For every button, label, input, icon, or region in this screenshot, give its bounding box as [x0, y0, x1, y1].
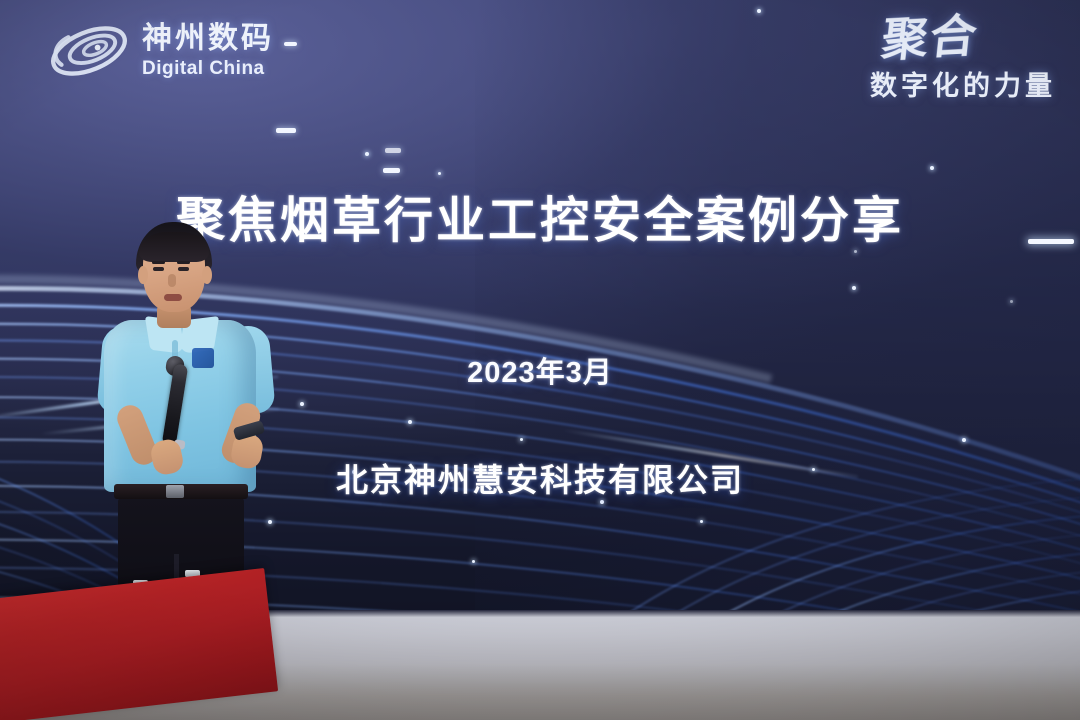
particle-dot [1010, 300, 1013, 303]
particle-dot [472, 560, 475, 563]
particle-dot [300, 402, 304, 406]
slogan-subtitle: 数字化的力量 [870, 64, 1056, 103]
slide-accent-dash [1028, 239, 1074, 244]
presenter-eye-right [178, 267, 189, 271]
digital-china-swirl-logo-icon [46, 18, 132, 84]
brand-name-en: Digital China [142, 59, 274, 78]
red-table-cloth [0, 568, 278, 720]
shirt-chest-logo-icon [192, 348, 214, 368]
particle-dot [365, 152, 369, 156]
particle-dash [383, 168, 400, 173]
particle-dot [930, 166, 934, 170]
digital-china-logo: 神州数码 Digital China [46, 18, 274, 84]
presenter-ear-left [138, 266, 148, 284]
particle-dot [757, 9, 761, 13]
particle-dot [408, 420, 412, 424]
presenter-nose [168, 274, 176, 287]
presenter-belt-buckle [166, 485, 184, 498]
presenter-ear-right [202, 266, 212, 284]
particle-dot [852, 286, 856, 290]
digital-china-wordmark: 神州数码 Digital China [142, 24, 274, 78]
presenter-mouth [164, 294, 182, 301]
presenter-eye-left [153, 267, 164, 271]
particle-dot [700, 520, 703, 523]
presenter-hair-front [139, 232, 209, 262]
conference-photo: 神州数码 Digital China 聚合 数字化的力量 聚焦烟草行业工控安全案… [0, 0, 1080, 720]
slogan-calligraphy: 聚合 [867, 13, 981, 65]
particle-dash [276, 128, 296, 133]
particle-dot [520, 438, 523, 441]
particle-dot [438, 172, 441, 175]
particle-dash [385, 148, 401, 153]
event-slogan: 聚合 数字化的力量 [870, 16, 1056, 103]
presenter-eyebrow-left [152, 261, 165, 264]
particle-dot [962, 438, 966, 442]
brand-name-cn: 神州数码 [142, 24, 274, 54]
foreground-table [0, 576, 290, 720]
presenter-eyebrow-right [177, 261, 190, 264]
particle-dash [284, 42, 297, 46]
